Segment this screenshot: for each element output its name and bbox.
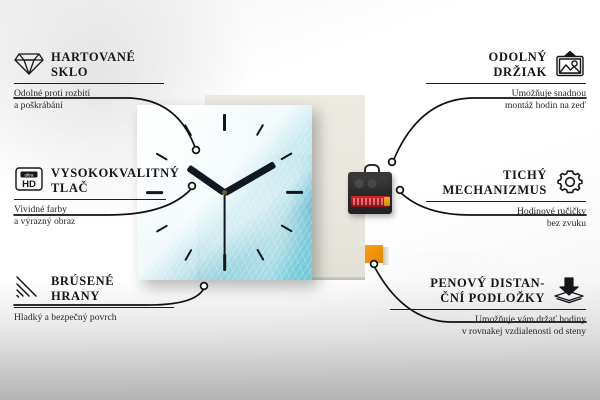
feature-title: TICHÝ MECHANIZMUS <box>442 168 547 197</box>
feature-divider <box>426 83 586 84</box>
foam-spacer-pad <box>365 245 383 263</box>
framed-picture-hanger-icon <box>554 50 586 78</box>
feature-hardened-glass[interactable]: HARTOVANÉ SKLO Odolné proti rozbití a po… <box>14 50 164 112</box>
feature-description: Hodinové ručičky bez zvuku <box>426 206 586 230</box>
svg-text:HD: HD <box>22 179 36 190</box>
feature-high-quality-print[interactable]: ultra HD VYSOKOKVALITNÝ TLAČ Vividné far… <box>14 166 166 228</box>
feature-title: ODOLNÝ DRŽIAK <box>489 50 547 79</box>
feature-ground-edges[interactable]: BRÚSENÉ HRANY Hladký a bezpečný povrch <box>14 274 174 324</box>
feature-durable-hanger[interactable]: ODOLNÝ DRŽIAK Umožňuje snadnou montáž ho… <box>426 50 586 112</box>
diamond-icon <box>14 50 44 76</box>
feature-title: HARTOVANÉ SKLO <box>51 50 135 79</box>
battery-label <box>353 198 383 205</box>
feature-divider <box>14 199 166 200</box>
clock-hour-mark <box>223 254 226 271</box>
clock-center-hub <box>222 190 227 195</box>
feature-divider <box>390 309 586 310</box>
svg-text:ultra: ultra <box>25 172 34 177</box>
clock-second-hand <box>224 193 226 255</box>
feature-description: Umožňuje vám držať hodiny v rovnakej vzd… <box>390 314 586 338</box>
foam-spacer-shadow <box>383 247 389 265</box>
battery-terminal <box>384 197 390 206</box>
ultra-hd-badge-icon: ultra HD <box>14 166 44 192</box>
clock-hour-mark <box>286 191 303 194</box>
mechanism-detail <box>352 176 388 193</box>
feature-description: Hladký a bezpečný povrch <box>14 312 174 324</box>
feature-silent-mechanism[interactable]: TICHÝ MECHANIZMUS Hodinové ručičky bez z… <box>426 168 586 230</box>
feature-divider <box>14 83 164 84</box>
feature-title: VYSOKOKVALITNÝ TLAČ <box>51 166 179 195</box>
infographic-canvas: HARTOVANÉ SKLO Odolné proti rozbití a po… <box>0 0 600 400</box>
feature-title: PENOVÝ DISTAN- ČNÍ PODLOŽKY <box>430 276 545 305</box>
feature-divider <box>14 307 174 308</box>
feature-description: Vividné farby a výrazný obraz <box>14 204 166 228</box>
feature-description: Umožňuje snadnou montáž hodin na zeď <box>426 88 586 112</box>
ground-edges-icon <box>14 274 44 300</box>
feature-divider <box>426 201 586 202</box>
foam-spacer-icon <box>552 276 586 304</box>
feature-foam-spacers[interactable]: PENOVÝ DISTAN- ČNÍ PODLOŽKY Umožňuje vám… <box>390 276 586 338</box>
feature-title: BRÚSENÉ HRANY <box>51 274 114 303</box>
gear-icon <box>554 168 586 196</box>
feature-description: Odolné proti rozbití a poškrábání <box>14 88 164 112</box>
clock-hour-mark <box>223 114 226 131</box>
